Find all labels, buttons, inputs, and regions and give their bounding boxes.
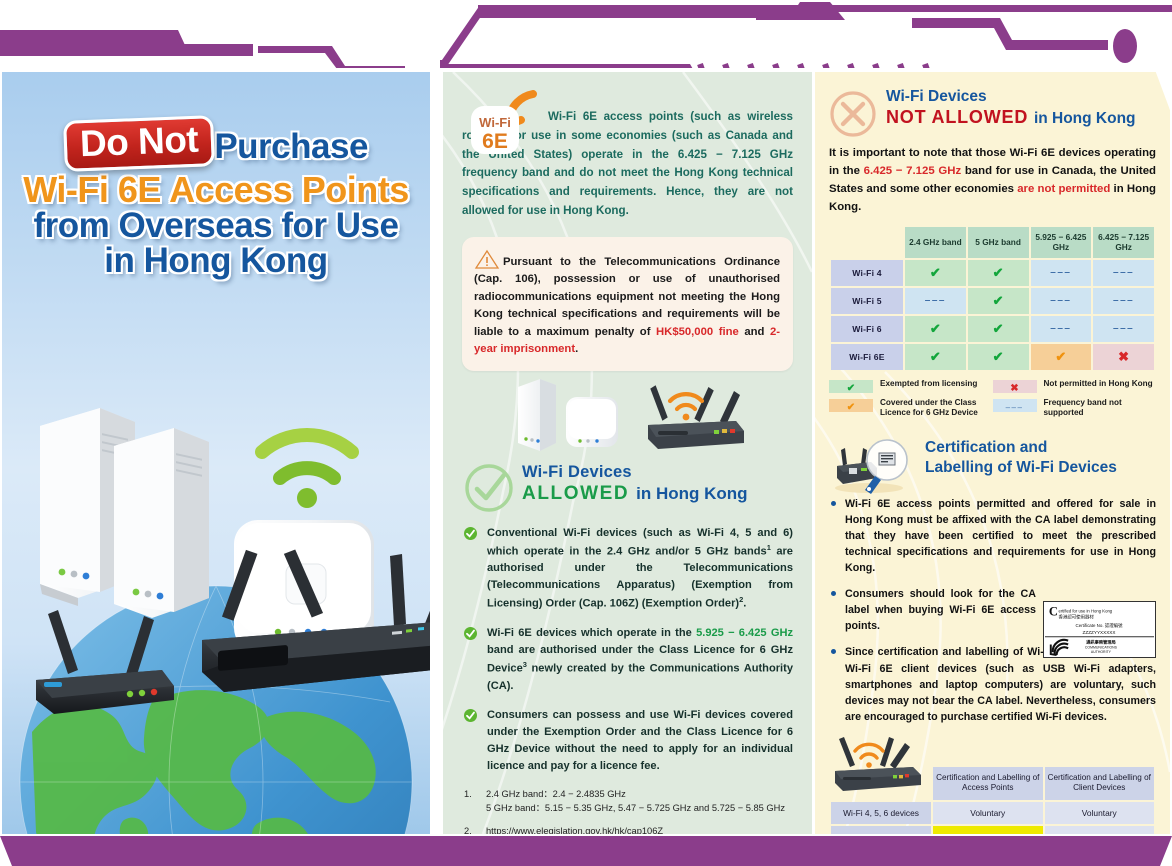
allowed-heading-suffix: in Hong Kong [636,484,747,503]
footnote-1-num: 1. [464,788,472,802]
ca-auth-en1: COMMUNICATIONS [1085,645,1118,649]
cell-wifi4-5925: ––– [1031,260,1092,286]
middle-content-panel: Wi-Fi 6E Wi-Fi 6E access points (such as… [443,72,812,834]
allowed-heading: Wi-Fi Devices ALLOWED in Hong Kong [462,463,793,519]
certification-bullets: Wi-Fi 6E access points permitted and off… [829,496,1156,725]
table-row: Wi-Fi 6E ✔ ✔ ✔ ✖ [831,344,1154,370]
bullet-dot-icon [831,649,836,654]
bullet-2-pre: Wi-Fi 6E devices which operate in the [487,627,696,639]
bullet-dot-icon [831,591,836,596]
bullet-3-text: Consumers can possess and use Wi-Fi devi… [487,709,793,772]
row-label-wifi6: Wi-Fi 6 [831,316,903,342]
list-item: Wi-Fi 6E access points permitted and off… [829,496,1156,576]
table-row: Wi-Fi 6 ✔ ✔ ––– ––– [831,316,1154,342]
left-hero-panel: Do NotPurchase Wi-Fi 6E Access Points fr… [2,72,430,834]
cell-wifi6e-5: ✔ [968,344,1029,370]
hero-illustration [2,402,430,834]
warning-triangle-icon [474,249,500,269]
cell-wifi6e-6425: ✖ [1093,344,1154,370]
legend-label-not-supported: Frequency band not supported [1044,398,1157,419]
cell-wifi5-24: ––– [905,288,966,314]
warning-box: Pursuant to the Telecommunications Ordin… [462,237,793,371]
tick-badge-icon [464,709,477,722]
router-magnifier-illustration [835,434,921,496]
right-content-panel: Wi-Fi Devices NOT ALLOWED in Hong Kong I… [815,72,1170,834]
bullet-2-post: newly created by the Communications Auth… [487,663,793,692]
ca-line1: ertified for use in Hong Kong [1058,609,1112,614]
allowed-heading-word: ALLOWED [522,483,629,504]
legend-swatch-blue: ––– [993,399,1037,412]
footnote-1-line2: 5 GHz band：5.15 − 5.35 GHz, 5.47 − 5.725… [486,802,793,816]
bullet-2-band: 5.925 − 6.425 GHz [696,627,793,639]
wifi-logo-top-text: Wi-Fi [479,115,511,130]
vol-corner [831,767,931,800]
warning-fine: HK$50,000 fine [656,326,739,338]
allowed-bullet-list: Conventional Wi-Fi devices (such as Wi-F… [462,525,793,775]
cell-wifi6-24: ✔ [905,316,966,342]
certification-heading: Certification and Labelling of Wi-Fi Dev… [829,438,1156,494]
legend-item-not-permitted: ✖ Not permitted in Hong Kong [993,379,1157,393]
table-corner [831,227,903,258]
bullet-dot-icon [831,501,836,506]
cell-wifi6e-24: ✔ [905,344,966,370]
bottom-bar-decoration [0,830,1172,866]
table-legend: ✔ Exempted from licensing ✖ Not permitte… [829,379,1156,424]
cell-wifi4-6425: ––– [1093,260,1154,286]
na-band: 6.425 − 7.125 GHz [864,165,962,177]
not-allowed-paragraph: It is important to note that those Wi-Fi… [829,144,1156,216]
ca-auth-en2: AUTHORITY [1091,650,1112,654]
top-decoration [0,0,1172,68]
hero-title: Do NotPurchase Wi-Fi 6E Access Points fr… [2,122,430,280]
table-header-row: Certification and Labelling of Access Po… [831,767,1154,800]
footnote-1: 1. 2.4 GHz band：2.4 − 2.4835 GHz 5 GHz b… [462,788,793,816]
ca-cert-code: ZZZZYYXXXXX [1083,630,1116,635]
cell-wifi6-5925: ––– [1031,316,1092,342]
table-row: Wi-Fi 4 ✔ ✔ ––– ––– [831,260,1154,286]
table-row: Wi-Fi 4, 5, 6 devices Voluntary Voluntar… [831,802,1154,824]
legend-item-class-licence: ✔ Covered under the Class Licence for 6 … [829,398,993,419]
cert-heading-line1: Certification and [925,438,1156,458]
not-allowed-word: NOT ALLOWED [886,107,1028,127]
voluntary-table-block: Certification and Labelling of Access Po… [829,735,1156,831]
vol-cell-1-2: Voluntary [1045,802,1155,824]
legend-swatch-orange: ✔ [829,399,873,412]
row-label-wifi5: Wi-Fi 5 [831,288,903,314]
cell-wifi5-6425: ––– [1093,288,1154,314]
tick-badge-icon [464,627,477,640]
row-label-wifi6e: Wi-Fi 6E [831,344,903,370]
legend-item-not-supported: ––– Frequency band not supported [993,398,1157,419]
legend-swatch-red: ✖ [993,380,1037,393]
vol-col-1: Certification and Labelling of Access Po… [933,767,1043,800]
bullet-1-post: . [743,598,746,610]
wifi-logo-bottom-text: 6E [482,130,508,153]
legend-item-exempted: ✔ Exempted from licensing [829,379,993,393]
cell-wifi5-5925: ––– [1031,288,1092,314]
cell-wifi5-5: ✔ [968,288,1029,314]
circle-check-icon [464,463,514,513]
cert-bullet-2: Consumers should look for the CA label w… [845,586,1036,634]
ca-cert-no: Certificate No. 認證編號 [1076,622,1124,629]
table-header-row: 2.4 GHz band 5 GHz band 5.925 − 6.425 GH… [831,227,1154,258]
band-col-1: 2.4 GHz band [905,227,966,258]
band-col-4: 6.425 − 7.125 GHz [1093,227,1154,258]
band-col-3: 5.925 − 6.425 GHz [1031,227,1092,258]
not-allowed-heading: Wi-Fi Devices NOT ALLOWED in Hong Kong [829,88,1156,140]
cell-wifi4-24: ✔ [905,260,966,286]
band-col-2: 5 GHz band [968,227,1029,258]
circle-x-icon [829,90,877,138]
row-label-wifi4: Wi-Fi 4 [831,260,903,286]
legend-label-exempted: Exempted from licensing [880,379,977,390]
band-support-table: 2.4 GHz band 5 GHz band 5.925 − 6.425 GH… [829,225,1156,372]
not-allowed-suffix: in Hong Kong [1034,110,1136,127]
hero-line-3: from Overseas for Use [2,208,430,244]
not-allowed-line1: Wi-Fi Devices [886,88,1156,106]
vol-col-2: Certification and Labelling of Client De… [1045,767,1155,800]
ca-label-image: C ertified for use in Hong Kong 香港認可使用器材… [1043,601,1156,658]
cell-wifi4-5: ✔ [968,260,1029,286]
legend-label-not-permitted: Not permitted in Hong Kong [1044,379,1153,390]
legend-swatch-green: ✔ [829,380,873,393]
footnote-1-line1: 2.4 GHz band：2.4 − 2.4835 GHz [486,788,793,802]
list-item: Wi-Fi 6E devices which operate in the 5.… [462,625,793,694]
cell-wifi6-6425: ––– [1093,316,1154,342]
na-highlight: are not permitted [1017,183,1110,195]
hero-word-purchase: Purchase [214,127,368,166]
list-item: Conventional Wi-Fi devices (such as Wi-F… [462,525,793,613]
vol-cell-1-1: Voluntary [933,802,1043,824]
hero-line-2: Wi-Fi 6E Access Points [2,171,430,208]
cert-bullet-1: Wi-Fi 6E access points permitted and off… [845,496,1156,576]
cert-heading-line2: Labelling of Wi-Fi Devices [925,458,1156,478]
list-item: Consumers can possess and use Wi-Fi devi… [462,707,793,774]
footnotes: 1. 2.4 GHz band：2.4 − 2.4835 GHz 5 GHz b… [462,788,793,834]
allowed-heading-line1: Wi-Fi Devices [522,463,793,482]
do-not-stamp: Do Not [63,115,215,172]
certification-voluntary-table: Certification and Labelling of Access Po… [829,765,1156,834]
vol-row-label-1: Wi-Fi 4, 5, 6 devices [831,802,931,824]
wifi-6e-logo: Wi-Fi 6E [465,88,539,160]
warning-text-3: . [575,343,578,355]
warning-text-2: and [739,326,770,338]
tick-badge-icon [464,527,477,540]
ca-c-letter: C [1049,605,1058,619]
bullet-1-pre: Conventional Wi-Fi devices (such as Wi-F… [487,527,793,558]
middle-router-illustration [462,375,793,461]
cell-wifi6e-5925: ✔ [1031,344,1092,370]
table-row: Wi-Fi 5 ––– ✔ ––– ––– [831,288,1154,314]
ca-line2: 香港認可使用器材 [1058,613,1094,620]
hero-line-4: in Hong Kong [2,243,430,279]
cell-wifi6-5: ✔ [968,316,1029,342]
legend-label-class-licence: Covered under the Class Licence for 6 GH… [880,398,993,419]
